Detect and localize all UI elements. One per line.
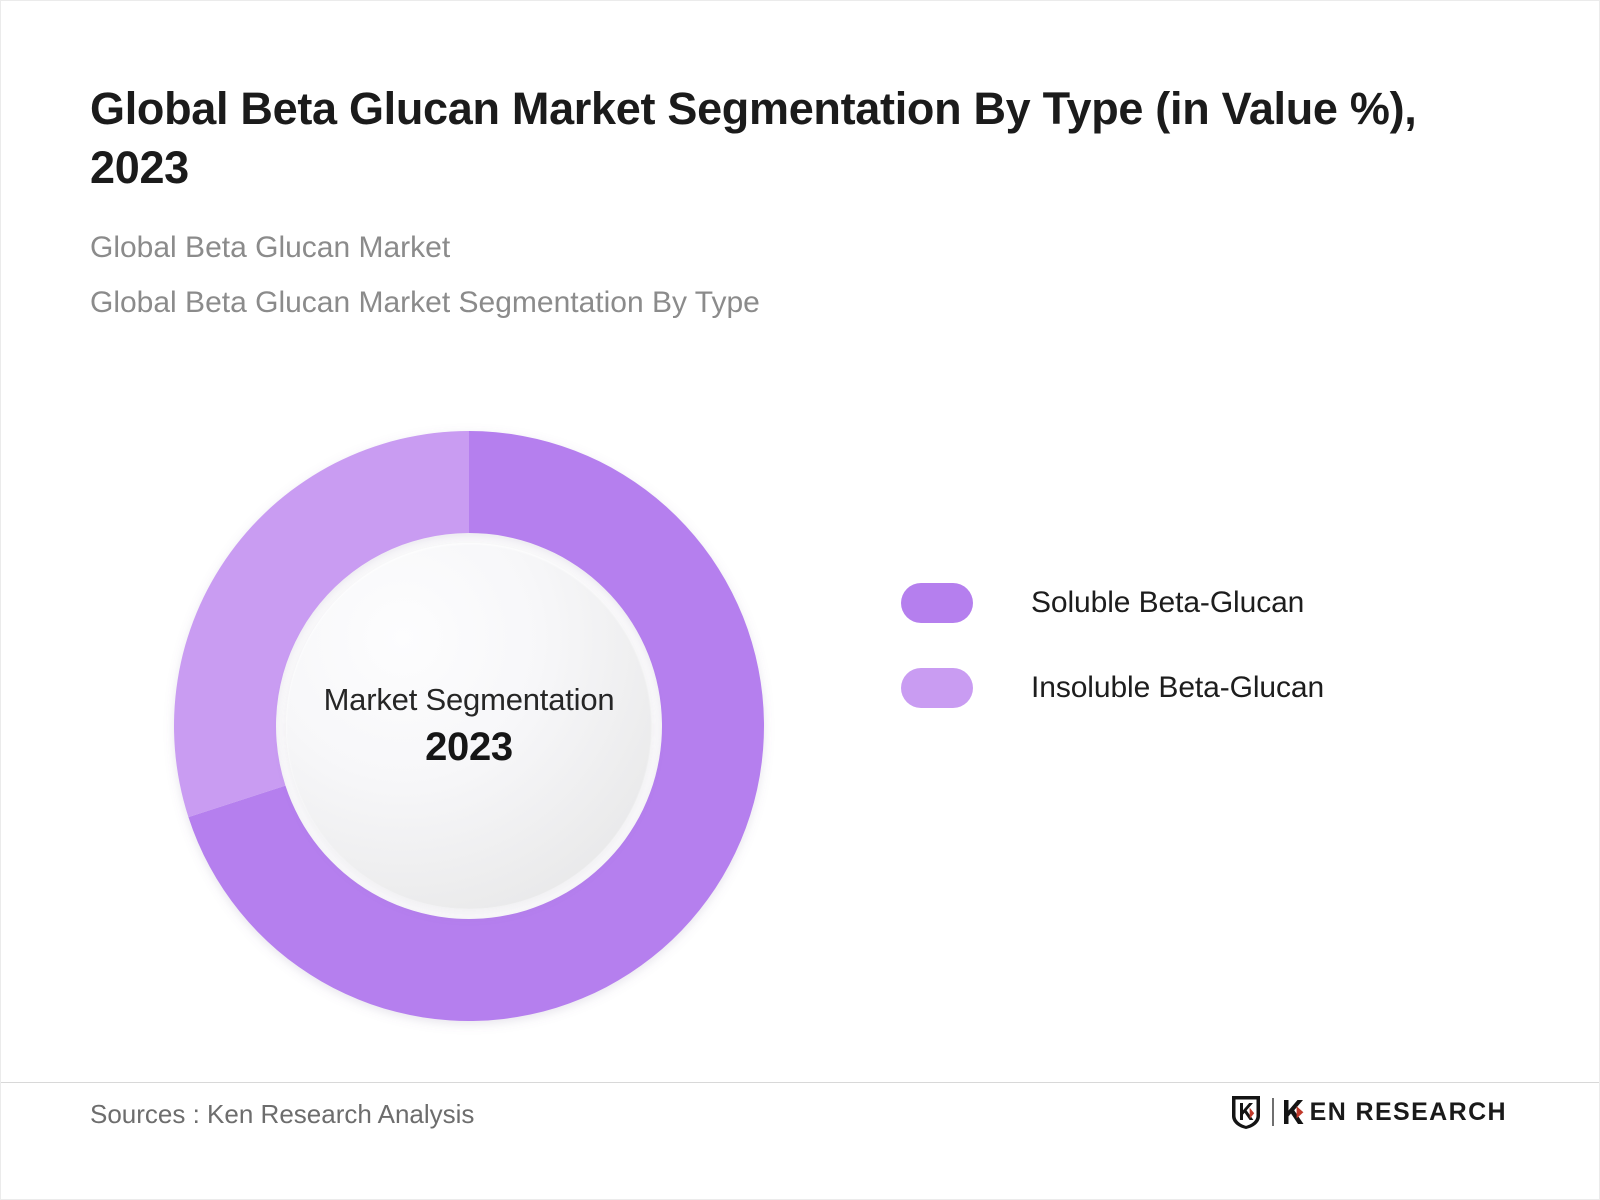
chart-plot-area: Market Segmentation 2023 Soluble Beta-Gl… — [1, 401, 1600, 1041]
legend-label-soluble: Soluble Beta-Glucan — [1031, 586, 1304, 620]
brand-wordmark: EN RESEARCH — [1283, 1098, 1507, 1126]
legend-item-insoluble[interactable]: Insoluble Beta-Glucan — [901, 664, 1461, 712]
chart-header: Global Beta Glucan Market Segmentation B… — [90, 79, 1510, 322]
chart-page: Global Beta Glucan Market Segmentation B… — [0, 0, 1600, 1200]
brand-k-icon — [1283, 1098, 1309, 1126]
legend-item-soluble[interactable]: Soluble Beta-Glucan — [901, 579, 1461, 627]
logo-divider — [1272, 1098, 1274, 1126]
legend-swatch-icon-soluble — [901, 583, 973, 623]
donut-center-value: 2023 — [425, 725, 513, 770]
donut-center-label: Market Segmentation — [324, 682, 615, 718]
source-note: Sources : Ken Research Analysis — [90, 1099, 474, 1130]
legend-label-insoluble: Insoluble Beta-Glucan — [1031, 671, 1324, 705]
donut-chart: Market Segmentation 2023 — [174, 431, 764, 1021]
shield-k-icon — [1230, 1094, 1262, 1130]
chart-subtitle-primary: Global Beta Glucan Market — [90, 228, 1510, 267]
donut-center-hole: Market Segmentation 2023 — [286, 543, 652, 909]
chart-subtitle-secondary: Global Beta Glucan Market Segmentation B… — [90, 283, 1510, 322]
page-title: Global Beta Glucan Market Segmentation B… — [90, 79, 1505, 198]
ken-research-logo: EN RESEARCH — [1230, 1093, 1507, 1131]
chart-legend: Soluble Beta-Glucan Insoluble Beta-Gluca… — [901, 579, 1461, 749]
brand-name-text: EN RESEARCH — [1310, 1100, 1507, 1125]
legend-swatch-icon-insoluble — [901, 668, 973, 708]
footer-divider — [1, 1082, 1600, 1083]
